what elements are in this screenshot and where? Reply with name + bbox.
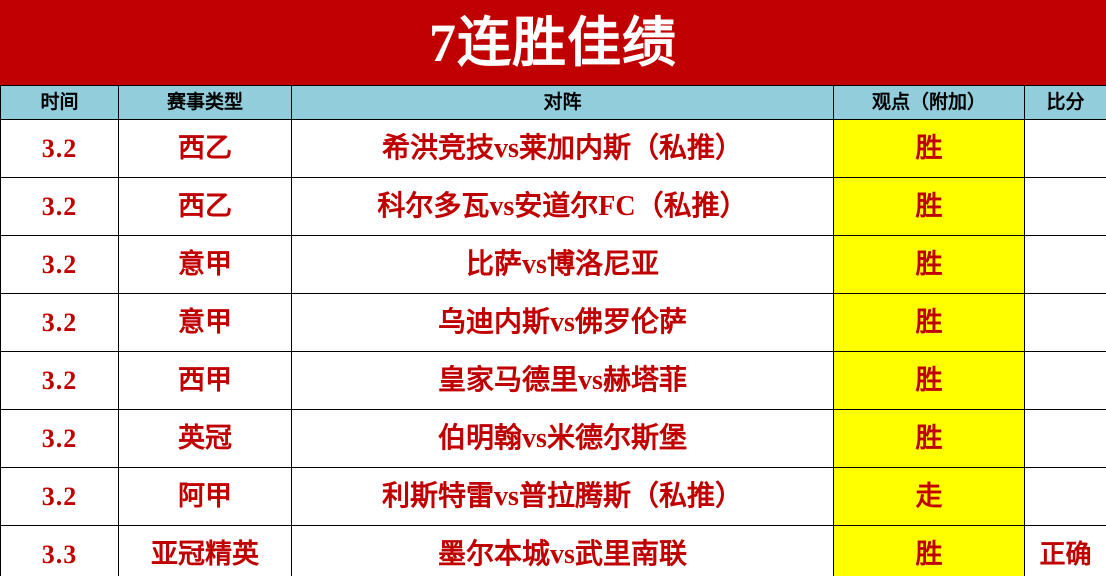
cell-time: 3.2 [1, 410, 119, 468]
cell-time: 3.2 [1, 236, 119, 294]
table-row: 3.2西乙希洪竞技vs莱加内斯（私推）胜 [1, 120, 1106, 178]
cell-score [1025, 468, 1106, 526]
cell-time: 3.2 [1, 178, 119, 236]
cell-view: 胜 [834, 410, 1025, 468]
cell-time: 3.2 [1, 352, 119, 410]
cell-league: 意甲 [119, 294, 292, 352]
cell-view: 胜 [834, 294, 1025, 352]
cell-time: 3.2 [1, 120, 119, 178]
column-header-time: 时间 [1, 86, 119, 120]
cell-score: 正确 [1025, 526, 1106, 576]
cell-league: 西乙 [119, 178, 292, 236]
cell-score [1025, 410, 1106, 468]
column-header-league: 赛事类型 [119, 86, 292, 120]
results-sheet: 7连胜佳绩 时间 赛事类型 对阵 观点（附加） 比分 3.2西乙希洪竞技vs莱加… [0, 0, 1106, 576]
cell-view: 胜 [834, 352, 1025, 410]
table-row: 3.2阿甲利斯特雷vs普拉腾斯（私推）走 [1, 468, 1106, 526]
cell-league: 英冠 [119, 410, 292, 468]
cell-match: 比萨vs博洛尼亚 [292, 236, 834, 294]
cell-match: 皇家马德里vs赫塔菲 [292, 352, 834, 410]
cell-league: 阿甲 [119, 468, 292, 526]
table-row: 3.2意甲比萨vs博洛尼亚胜 [1, 236, 1106, 294]
cell-league: 西乙 [119, 120, 292, 178]
cell-match: 墨尔本城vs武里南联 [292, 526, 834, 576]
cell-time: 3.2 [1, 294, 119, 352]
cell-view: 胜 [834, 236, 1025, 294]
cell-time: 3.2 [1, 468, 119, 526]
cell-league: 西甲 [119, 352, 292, 410]
table-header-row: 时间 赛事类型 对阵 观点（附加） 比分 [1, 86, 1106, 120]
cell-view: 胜 [834, 178, 1025, 236]
cell-league: 意甲 [119, 236, 292, 294]
table-row: 3.2西乙科尔多瓦vs安道尔FC（私推）胜 [1, 178, 1106, 236]
cell-view: 胜 [834, 526, 1025, 576]
table-body: 3.2西乙希洪竞技vs莱加内斯（私推）胜3.2西乙科尔多瓦vs安道尔FC（私推）… [1, 120, 1106, 576]
cell-score [1025, 120, 1106, 178]
cell-time: 3.3 [1, 526, 119, 576]
title-banner: 7连胜佳绩 [0, 0, 1106, 85]
cell-score [1025, 178, 1106, 236]
table-row: 3.2西甲皇家马德里vs赫塔菲胜 [1, 352, 1106, 410]
column-header-score: 比分 [1025, 86, 1106, 120]
page-title: 7连胜佳绩 [429, 16, 677, 70]
cell-match: 利斯特雷vs普拉腾斯（私推） [292, 468, 834, 526]
cell-match: 伯明翰vs米德尔斯堡 [292, 410, 834, 468]
cell-view: 走 [834, 468, 1025, 526]
cell-league: 亚冠精英 [119, 526, 292, 576]
cell-match: 乌迪内斯vs佛罗伦萨 [292, 294, 834, 352]
cell-view: 胜 [834, 120, 1025, 178]
table-row: 3.2意甲乌迪内斯vs佛罗伦萨胜 [1, 294, 1106, 352]
cell-score [1025, 236, 1106, 294]
cell-match: 希洪竞技vs莱加内斯（私推） [292, 120, 834, 178]
column-header-view: 观点（附加） [834, 86, 1025, 120]
results-table: 时间 赛事类型 对阵 观点（附加） 比分 3.2西乙希洪竞技vs莱加内斯（私推）… [0, 85, 1106, 576]
column-header-match: 对阵 [292, 86, 834, 120]
table-row: 3.2英冠伯明翰vs米德尔斯堡胜 [1, 410, 1106, 468]
cell-score [1025, 352, 1106, 410]
cell-match: 科尔多瓦vs安道尔FC（私推） [292, 178, 834, 236]
table-row: 3.3亚冠精英墨尔本城vs武里南联胜正确 [1, 526, 1106, 576]
cell-score [1025, 294, 1106, 352]
